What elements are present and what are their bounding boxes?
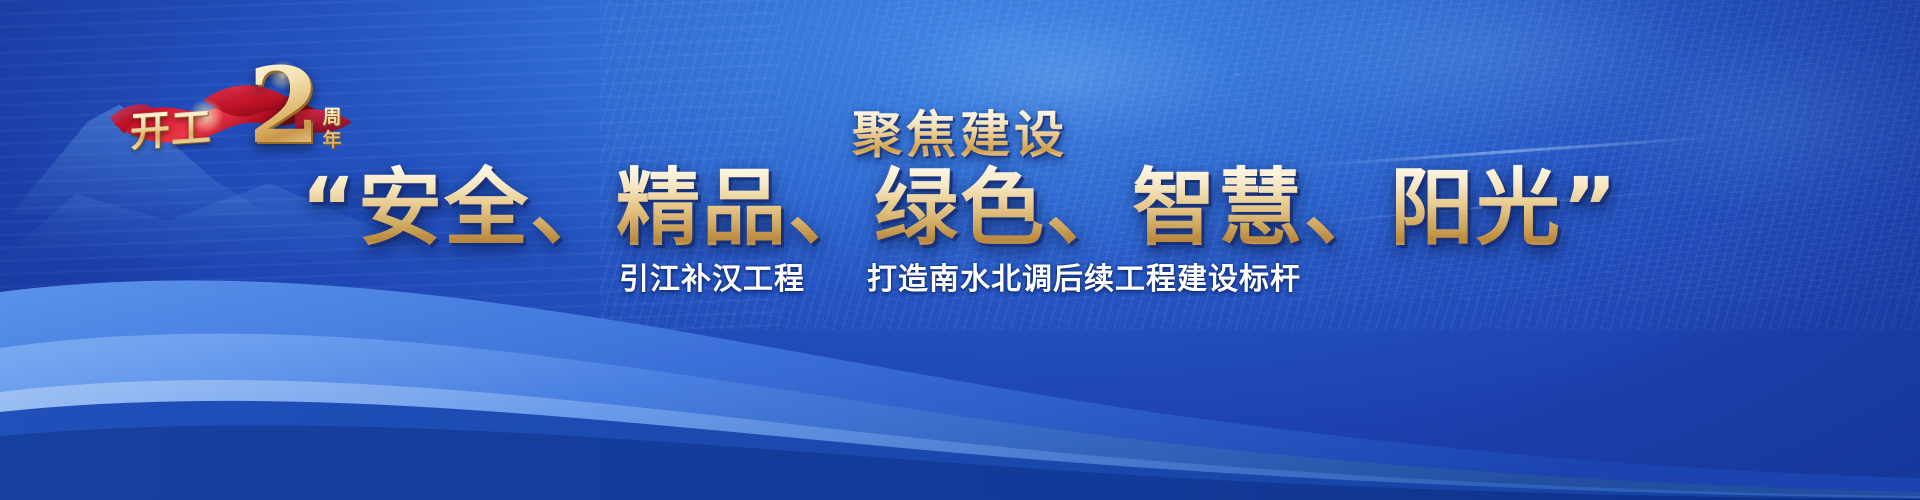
banner-root: 开工 2 周 年 聚焦建设 “安全、精品、绿色、智慧、阳光” 引江补汉工程 打造… xyxy=(0,0,1920,500)
eyebrow-text: 聚焦建设 xyxy=(0,108,1920,162)
subtitle-text: 引江补汉工程 打造南水北调后续工程建设标杆 xyxy=(0,260,1920,300)
headline-text: “安全、精品、绿色、智慧、阳光” xyxy=(0,160,1920,256)
